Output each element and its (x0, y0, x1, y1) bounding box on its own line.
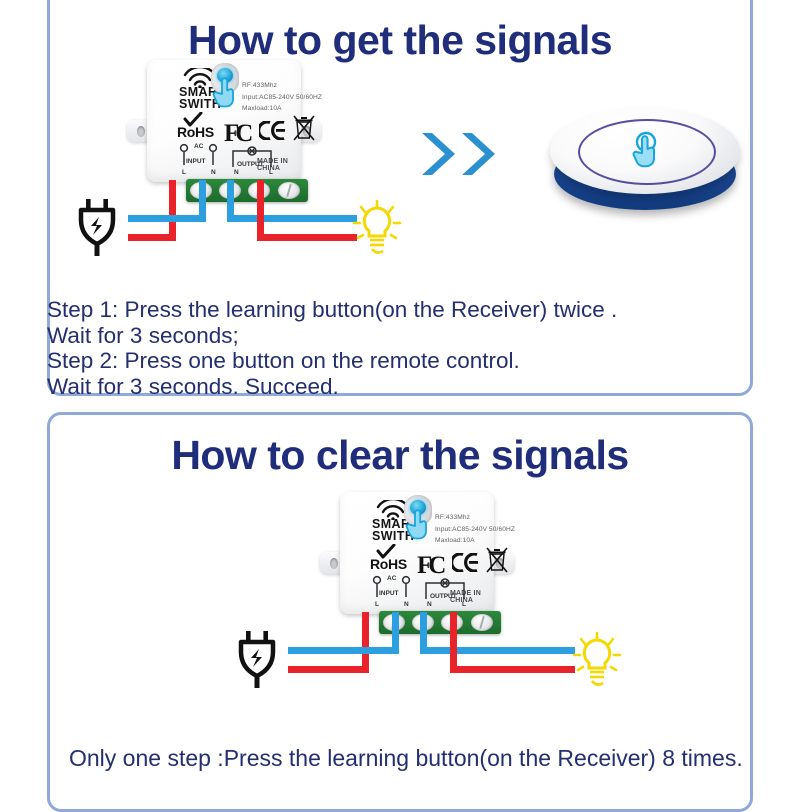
weee-bin-icon (293, 115, 315, 141)
receiver-body: SMART SWITH RoHS FC RF:433Mhz Input:AC (147, 60, 301, 182)
wire-live-input-vertical (169, 180, 176, 241)
ce-mark-icon (452, 553, 478, 572)
spec-text: RF:433Mhz Input:AC85-240V 50/60HZ Maxloa… (242, 80, 322, 115)
legend-terminal-1: N (211, 169, 216, 176)
hand-touch-icon (211, 74, 241, 108)
wire-neutral-input-horizontal (128, 215, 206, 222)
spec-text: RF:433Mhz Input:AC85-240V 50/60HZ Maxloa… (435, 512, 515, 547)
legend-terminal-3: L (269, 169, 273, 176)
steps-text-get: Step 1: Press the learning button(on the… (47, 297, 617, 399)
terminal-legend: AC INPUT OUTPUT L N N L (368, 575, 478, 609)
legend-terminal-1: N (404, 601, 409, 608)
legend-terminal-0: L (375, 601, 379, 608)
wire-live-input-vertical (362, 612, 369, 673)
hand-touch-icon (404, 506, 434, 540)
page-title-get: How to get the signals (50, 17, 750, 64)
wire-neutral-output-horizontal (227, 215, 357, 222)
wire-live-input-horizontal (128, 234, 176, 241)
wire-neutral-output-horizontal (420, 647, 575, 654)
wire-live-output-horizontal (257, 234, 357, 241)
terminal-legend: AC INPUT OUTPUT L N N L (175, 143, 285, 177)
remote-control[interactable] (550, 108, 740, 218)
legend-input: INPUT (186, 158, 206, 165)
wire-live-output-horizontal (450, 666, 575, 673)
power-plug-icon (70, 198, 124, 258)
legend-terminal-2: N (234, 169, 239, 176)
legend-terminal-0: L (182, 169, 186, 176)
legend-output: OUTPUT (237, 161, 264, 168)
remote-top-surface[interactable] (550, 108, 740, 194)
terminal-screw[interactable] (471, 614, 493, 631)
signal-arrows-icon (418, 128, 528, 180)
legend-input: INPUT (379, 590, 399, 597)
weee-bin-icon (486, 547, 508, 573)
ce-mark-icon (259, 121, 285, 140)
legend-output: OUTPUT (430, 593, 457, 600)
receiver-body: SMART SWITH RoHS FC RF:433Mhz Input:AC (340, 492, 494, 614)
legend-ac: AC (194, 143, 203, 150)
light-bulb-icon (570, 632, 624, 688)
wire-live-output-vertical (450, 612, 457, 673)
legend-terminal-2: N (427, 601, 432, 608)
wire-neutral-input-horizontal (288, 647, 399, 654)
rohs-mark: RoHS (177, 124, 214, 140)
power-plug-icon (230, 630, 284, 690)
legend-ac: AC (387, 575, 396, 582)
receiver-module-bottom: SMART SWITH RoHS FC RF:433Mhz Input:AC (318, 492, 516, 627)
hand-touch-icon (628, 129, 664, 171)
steps-text-clear: Only one step :Press the learning button… (69, 746, 743, 772)
rohs-mark: RoHS (370, 556, 407, 572)
legend-terminal-3: L (462, 601, 466, 608)
receiver-module-top: SMART SWITH RoHS FC RF:433Mhz Input:AC (125, 60, 323, 195)
wire-live-output-vertical (257, 180, 264, 241)
light-bulb-icon (350, 200, 404, 256)
page-title-clear: How to clear the signals (50, 432, 750, 479)
wire-live-input-horizontal (288, 666, 369, 673)
terminal-screw[interactable] (278, 182, 300, 199)
